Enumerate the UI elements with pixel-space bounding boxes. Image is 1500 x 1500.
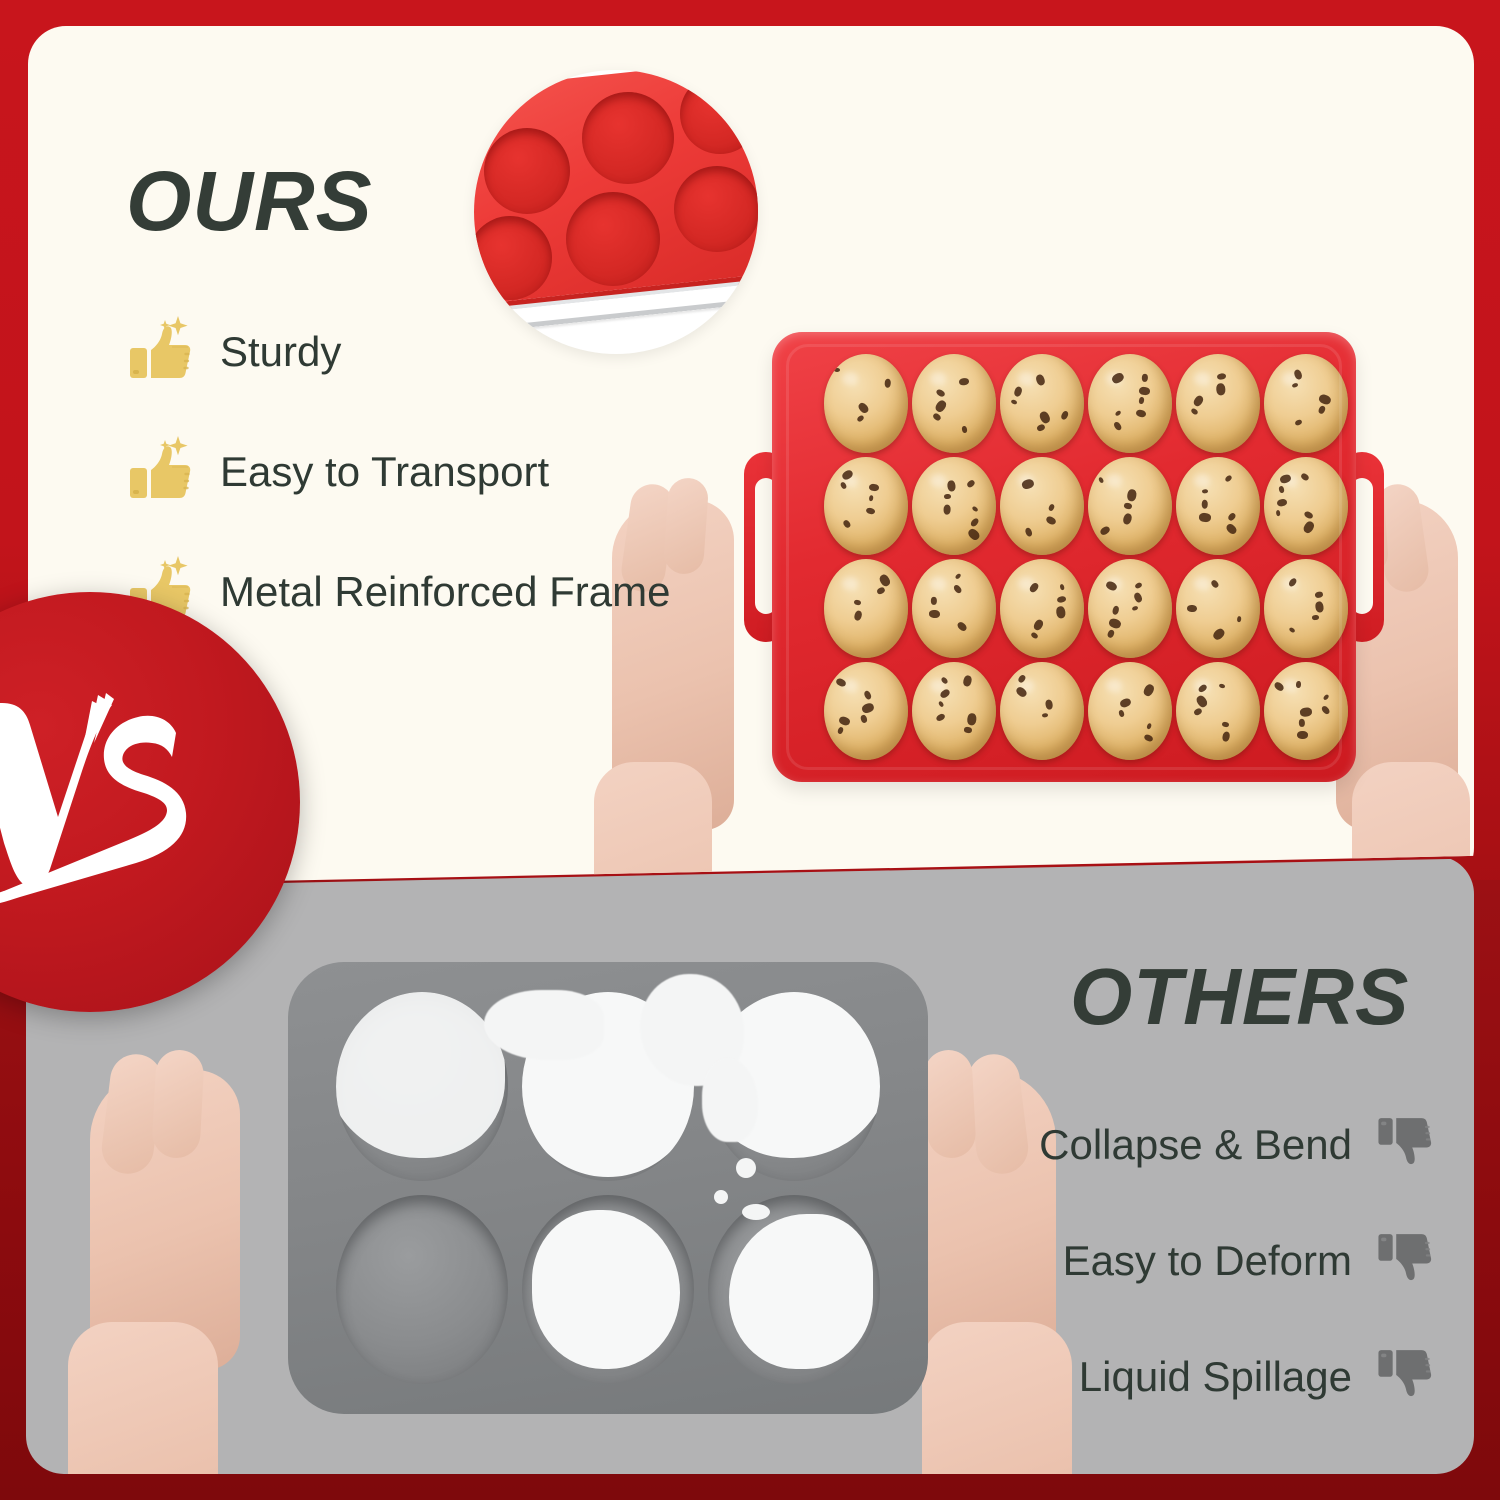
chocolate-chip bbox=[935, 712, 946, 722]
chocolate-chip bbox=[966, 479, 976, 489]
chocolate-chip bbox=[1275, 510, 1280, 516]
chocolate-chip bbox=[1030, 631, 1039, 639]
muffin bbox=[912, 662, 996, 761]
chocolate-chip bbox=[1146, 722, 1152, 729]
chocolate-chip bbox=[961, 425, 967, 433]
chocolate-chip bbox=[860, 714, 868, 723]
muffin bbox=[1088, 559, 1172, 658]
chocolate-chip bbox=[1192, 395, 1205, 409]
muffin bbox=[1176, 662, 1260, 761]
chocolate-chip bbox=[1198, 512, 1211, 522]
chocolate-chip bbox=[853, 610, 863, 622]
chocolate-chip bbox=[1013, 386, 1023, 398]
muffin bbox=[1088, 457, 1172, 556]
ours-feature-list: Sturdy Easy to Tra bbox=[124, 310, 744, 670]
chocolate-chip bbox=[1124, 502, 1133, 509]
muffin bbox=[1264, 354, 1348, 453]
ours-feature-label: Sturdy bbox=[220, 328, 341, 376]
chocolate-chip bbox=[1114, 410, 1121, 417]
chocolate-chip bbox=[861, 702, 875, 714]
chocolate-chip bbox=[1107, 629, 1115, 639]
chocolate-chip bbox=[1217, 382, 1227, 395]
batter-drop bbox=[736, 1158, 756, 1178]
chocolate-chip bbox=[1225, 523, 1238, 536]
muffin bbox=[912, 457, 996, 556]
others-feature-item: Easy to Deform bbox=[878, 1224, 1438, 1298]
chocolate-chip bbox=[944, 494, 951, 499]
chocolate-chip bbox=[876, 586, 886, 595]
chocolate-chip bbox=[1098, 477, 1105, 484]
chocolate-chip bbox=[934, 399, 948, 414]
chocolate-chip bbox=[1123, 512, 1134, 525]
chocolate-chip bbox=[857, 401, 870, 414]
chocolate-chip bbox=[1320, 705, 1331, 716]
chocolate-chip bbox=[959, 377, 970, 386]
chocolate-chip bbox=[856, 414, 865, 422]
chocolate-chip bbox=[969, 516, 980, 527]
chocolate-chip bbox=[943, 504, 951, 514]
ours-heading: OURS bbox=[126, 159, 373, 243]
infographic-canvas: OURS Sturdy bbox=[0, 0, 1500, 1500]
chocolate-chip bbox=[1293, 368, 1303, 380]
chocolate-chip bbox=[967, 527, 982, 542]
ours-feature-item: Easy to Transport bbox=[124, 430, 744, 514]
chocolate-chip bbox=[868, 495, 873, 502]
others-feature-label: Easy to Deform bbox=[1063, 1237, 1352, 1285]
gray-cup bbox=[522, 1195, 694, 1384]
ours-product-photo bbox=[744, 332, 1384, 782]
chocolate-chip bbox=[1032, 618, 1044, 632]
chocolate-chip bbox=[929, 610, 941, 619]
muffin bbox=[1264, 559, 1348, 658]
muffin bbox=[1264, 662, 1348, 761]
chocolate-chip bbox=[1056, 606, 1066, 619]
thumbs-down-icon bbox=[1374, 1343, 1438, 1412]
chocolate-chip bbox=[1287, 576, 1298, 587]
chocolate-chip bbox=[1317, 405, 1326, 415]
chocolate-chip bbox=[1110, 371, 1125, 385]
chocolate-chip bbox=[1227, 512, 1237, 522]
muffin bbox=[1000, 354, 1084, 453]
chocolate-chip bbox=[1299, 718, 1305, 726]
ours-feature-item: Sturdy bbox=[124, 310, 744, 394]
inset-cup bbox=[680, 74, 758, 154]
chocolate-chip bbox=[1221, 731, 1230, 742]
chocolate-chip bbox=[1187, 605, 1197, 613]
chocolate-chip bbox=[1300, 707, 1313, 717]
chocolate-chip bbox=[1127, 489, 1137, 502]
chocolate-chip bbox=[1212, 627, 1227, 642]
chocolate-chip bbox=[1224, 474, 1233, 482]
muffin bbox=[824, 457, 908, 556]
ours-feature-item: Metal Reinforced Frame bbox=[124, 550, 744, 634]
chocolate-chip bbox=[1190, 408, 1199, 416]
muffin bbox=[824, 354, 908, 453]
muffin bbox=[912, 559, 996, 658]
thumbs-down-icon bbox=[1374, 1111, 1438, 1180]
chocolate-chip bbox=[941, 676, 949, 685]
chocolate-chip bbox=[1099, 525, 1111, 537]
chocolate-chip bbox=[1322, 693, 1329, 700]
chocolate-chip bbox=[1194, 707, 1204, 716]
muffin bbox=[1176, 354, 1260, 453]
others-feature-item: Collapse & Bend bbox=[878, 1108, 1438, 1182]
thumbs-down-icon bbox=[1374, 1227, 1438, 1296]
chocolate-chip bbox=[1303, 510, 1314, 520]
chocolate-chip bbox=[1300, 472, 1310, 481]
chocolate-chip bbox=[1222, 721, 1230, 727]
chocolate-chip bbox=[1119, 697, 1132, 708]
chocolate-chip bbox=[869, 484, 880, 492]
muffin bbox=[1264, 457, 1348, 556]
chocolate-chip bbox=[878, 573, 892, 588]
chocolate-chip bbox=[1010, 399, 1017, 405]
batter-drop bbox=[714, 1190, 728, 1204]
gray-cup-grid bbox=[336, 992, 880, 1384]
chocolate-chip bbox=[837, 727, 844, 735]
others-feature-label: Liquid Spillage bbox=[1079, 1353, 1352, 1401]
chocolate-chip bbox=[1059, 583, 1065, 590]
chocolate-chip bbox=[854, 600, 862, 606]
chocolate-chip bbox=[834, 368, 840, 372]
batter-spill bbox=[484, 990, 604, 1060]
chocolate-chip bbox=[838, 715, 851, 726]
chocolate-chip bbox=[1236, 616, 1241, 622]
muffin bbox=[1176, 559, 1260, 658]
chocolate-chip bbox=[1038, 410, 1051, 425]
muffin-grid bbox=[824, 354, 1348, 760]
chocolate-chip bbox=[939, 688, 951, 700]
gray-cup bbox=[708, 1195, 880, 1384]
gray-silicone-pan bbox=[288, 962, 928, 1414]
thumbs-up-sparkle-icon bbox=[124, 434, 196, 511]
chocolate-chip bbox=[1035, 373, 1046, 386]
chocolate-chip bbox=[884, 378, 891, 387]
chocolate-chip bbox=[1197, 683, 1208, 694]
chocolate-chip bbox=[1195, 694, 1209, 709]
chocolate-chip bbox=[1278, 486, 1285, 494]
chocolate-chip bbox=[1131, 605, 1138, 611]
chocolate-chip bbox=[1142, 373, 1148, 381]
chocolate-chip bbox=[1273, 681, 1285, 693]
chocolate-chip bbox=[1294, 419, 1302, 427]
chocolate-chip bbox=[1133, 592, 1144, 604]
chocolate-chip bbox=[1111, 605, 1120, 615]
chocolate-chip bbox=[1108, 617, 1122, 629]
chocolate-chip bbox=[954, 572, 961, 579]
inset-cup bbox=[484, 128, 570, 214]
muffin bbox=[1000, 457, 1084, 556]
chocolate-chip bbox=[1143, 734, 1154, 744]
chocolate-chip bbox=[1288, 627, 1295, 634]
chocolate-chip bbox=[1134, 581, 1143, 589]
chocolate-chip bbox=[1202, 499, 1209, 508]
others-heading: OTHERS bbox=[1070, 957, 1409, 1037]
chocolate-chip bbox=[1048, 503, 1056, 511]
chocolate-chip bbox=[963, 675, 973, 688]
muffin bbox=[1088, 662, 1172, 761]
chocolate-chip bbox=[865, 507, 875, 515]
chocolate-chip bbox=[1104, 580, 1117, 592]
muffin bbox=[1000, 559, 1084, 658]
chocolate-chip bbox=[1218, 683, 1225, 689]
chocolate-chip bbox=[1139, 386, 1151, 395]
ours-feature-label: Metal Reinforced Frame bbox=[220, 568, 671, 616]
muffin bbox=[912, 354, 996, 453]
chocolate-chip bbox=[1318, 393, 1332, 405]
chocolate-chip bbox=[1059, 410, 1069, 421]
chocolate-chip bbox=[1315, 591, 1324, 598]
chocolate-chip bbox=[947, 480, 956, 492]
chocolate-chip bbox=[1312, 615, 1319, 621]
others-feature-label: Collapse & Bend bbox=[1039, 1121, 1352, 1169]
chocolate-chip bbox=[1042, 712, 1048, 717]
chocolate-chip bbox=[1296, 681, 1302, 688]
red-muffin-pan bbox=[772, 332, 1356, 782]
chocolate-chip bbox=[964, 726, 973, 733]
chocolate-chip bbox=[1015, 685, 1028, 698]
chocolate-chip bbox=[932, 412, 942, 422]
chocolate-chip bbox=[1210, 579, 1220, 589]
chocolate-chip bbox=[1118, 709, 1125, 717]
chocolate-chip bbox=[952, 583, 963, 594]
chocolate-chip bbox=[1314, 601, 1324, 613]
chocolate-chip bbox=[1028, 581, 1040, 593]
chocolate-chip bbox=[835, 677, 847, 688]
chocolate-chip bbox=[1138, 397, 1144, 405]
muffin bbox=[1000, 662, 1084, 761]
chocolate-chip bbox=[1279, 474, 1292, 485]
others-feature-list: Collapse & Bend Easy to Deform bbox=[878, 1108, 1438, 1456]
chocolate-chip bbox=[1044, 699, 1053, 710]
gray-cup bbox=[336, 1195, 508, 1384]
chocolate-chip bbox=[1017, 674, 1026, 684]
chocolate-chip bbox=[967, 713, 977, 726]
chocolate-chip bbox=[1302, 520, 1316, 535]
chocolate-chip bbox=[1297, 731, 1308, 739]
chocolate-chip bbox=[843, 518, 852, 528]
chocolate-chip bbox=[1276, 498, 1287, 507]
chocolate-chip bbox=[1142, 683, 1155, 698]
chocolate-chip bbox=[1112, 421, 1123, 432]
chocolate-chip bbox=[938, 700, 945, 707]
others-feature-item: Liquid Spillage bbox=[878, 1340, 1438, 1414]
muffin bbox=[1088, 354, 1172, 453]
chocolate-chip bbox=[1202, 489, 1208, 494]
chocolate-chip bbox=[1217, 372, 1227, 380]
chocolate-chip bbox=[1291, 382, 1298, 388]
chocolate-chip bbox=[1036, 424, 1046, 433]
gray-cup bbox=[336, 992, 508, 1181]
chocolate-chip bbox=[840, 469, 854, 482]
batter-drop bbox=[742, 1204, 770, 1220]
ours-feature-label: Easy to Transport bbox=[220, 448, 549, 496]
chocolate-chip bbox=[840, 481, 848, 490]
vs-brush-icon bbox=[0, 667, 240, 937]
chocolate-chip bbox=[1023, 527, 1032, 538]
chocolate-chip bbox=[932, 597, 938, 605]
muffin bbox=[1176, 457, 1260, 556]
chocolate-chip bbox=[1057, 596, 1067, 604]
chocolate-chip bbox=[935, 389, 946, 399]
muffin bbox=[824, 662, 908, 761]
chocolate-chip bbox=[955, 621, 967, 633]
chocolate-chip bbox=[971, 505, 978, 512]
others-product-photo bbox=[258, 962, 958, 1432]
chocolate-chip bbox=[1135, 409, 1147, 419]
muffin bbox=[824, 559, 908, 658]
chocolate-chip bbox=[1045, 515, 1057, 526]
chocolate-chip bbox=[863, 690, 873, 701]
chocolate-chip bbox=[1021, 478, 1035, 490]
inset-cup bbox=[582, 92, 674, 184]
thumbs-up-sparkle-icon bbox=[124, 314, 196, 391]
